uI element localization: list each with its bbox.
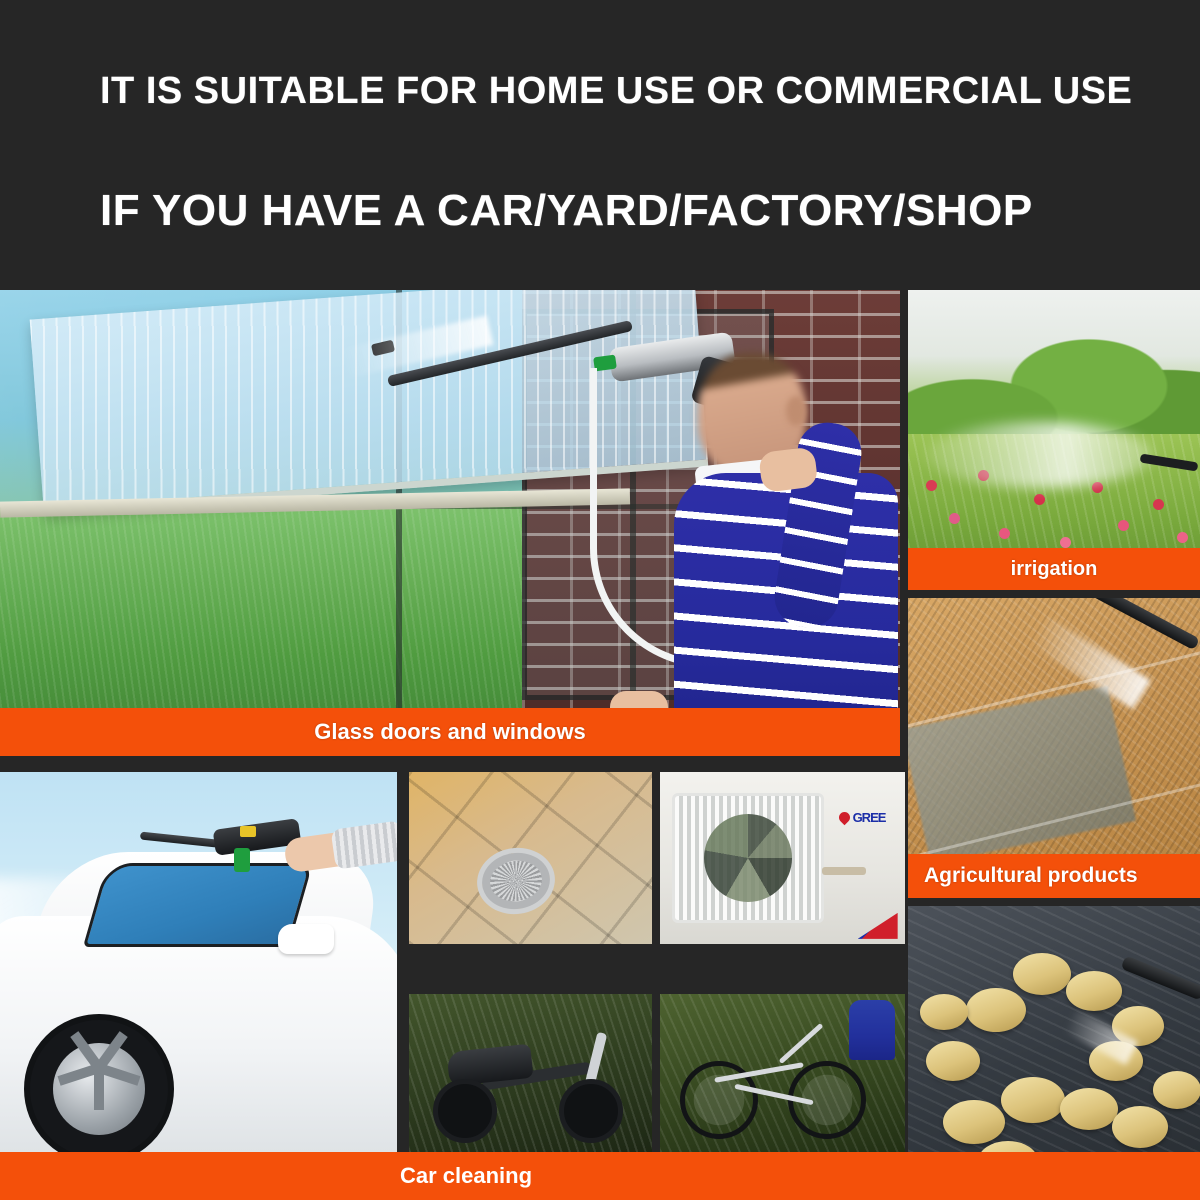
caption-car-cleaning: Car cleaning — [0, 1152, 1200, 1200]
side-mirror — [278, 924, 334, 954]
caption-agricultural-products: Agricultural products — [908, 854, 1200, 898]
panel-bicycle-washing — [660, 994, 905, 1152]
flower — [949, 513, 960, 524]
panel-irrigation: irrigation — [908, 290, 1200, 590]
potato — [1001, 1077, 1065, 1123]
potato — [1066, 971, 1122, 1011]
person-washing — [849, 1000, 895, 1060]
potato — [1112, 1106, 1168, 1148]
green-connector — [234, 848, 250, 872]
panel-agricultural-products: Agricultural products — [908, 598, 1200, 898]
panel-car-washing — [0, 772, 397, 1152]
scooter-wheel — [559, 1079, 623, 1143]
striped-sleeve — [331, 821, 397, 870]
flower — [1060, 537, 1071, 548]
panel-floor-drain — [409, 772, 652, 944]
ac-fan — [704, 814, 792, 902]
brand-logo: GREE — [839, 810, 886, 825]
flower — [1118, 520, 1129, 531]
water-mist — [926, 422, 1154, 488]
brand-logo-mark — [836, 810, 852, 826]
panel-glass-doors-and-windows: Glass doors and windows — [0, 290, 900, 756]
potato — [1060, 1088, 1118, 1130]
potato — [1013, 953, 1071, 995]
potato — [1153, 1071, 1200, 1109]
potato — [920, 994, 968, 1030]
flower — [1177, 532, 1188, 543]
caption-glass-doors-and-windows: Glass doors and windows — [0, 708, 900, 756]
person-operator — [668, 327, 898, 756]
flower — [999, 528, 1010, 539]
person-ear — [786, 396, 806, 426]
potato — [943, 1100, 1005, 1144]
use-case-collage: Glass doors and windows — [0, 288, 1200, 1200]
header-banner: IT IS SUITABLE FOR HOME USE OR COMMERCIA… — [0, 0, 1200, 288]
car-wheel — [24, 1014, 174, 1152]
ac-grille — [672, 793, 824, 924]
yellow-label — [240, 826, 256, 837]
car-rim — [53, 1043, 145, 1135]
panel-scooter-washing — [409, 994, 652, 1152]
flower — [1034, 494, 1045, 505]
flower — [1153, 499, 1164, 510]
hand-holding-gun — [758, 446, 818, 493]
potato — [926, 1041, 980, 1081]
panel-air-conditioner-unit: GREE Home cleaning — [660, 772, 905, 944]
product-feature-image: IT IS SUITABLE FOR HOME USE OR COMMERCIA… — [0, 0, 1200, 1200]
scooter-wheel — [433, 1079, 497, 1143]
headline-primary: IT IS SUITABLE FOR HOME USE OR COMMERCIA… — [100, 70, 1132, 113]
flower — [926, 480, 937, 491]
caption-irrigation: irrigation — [908, 548, 1200, 590]
headline-secondary: IF YOU HAVE A CAR/YARD/FACTORY/SHOP — [100, 186, 1033, 236]
drain-grate — [487, 857, 544, 904]
brand-logo-text: GREE — [853, 810, 886, 825]
panel-handle — [822, 867, 866, 875]
